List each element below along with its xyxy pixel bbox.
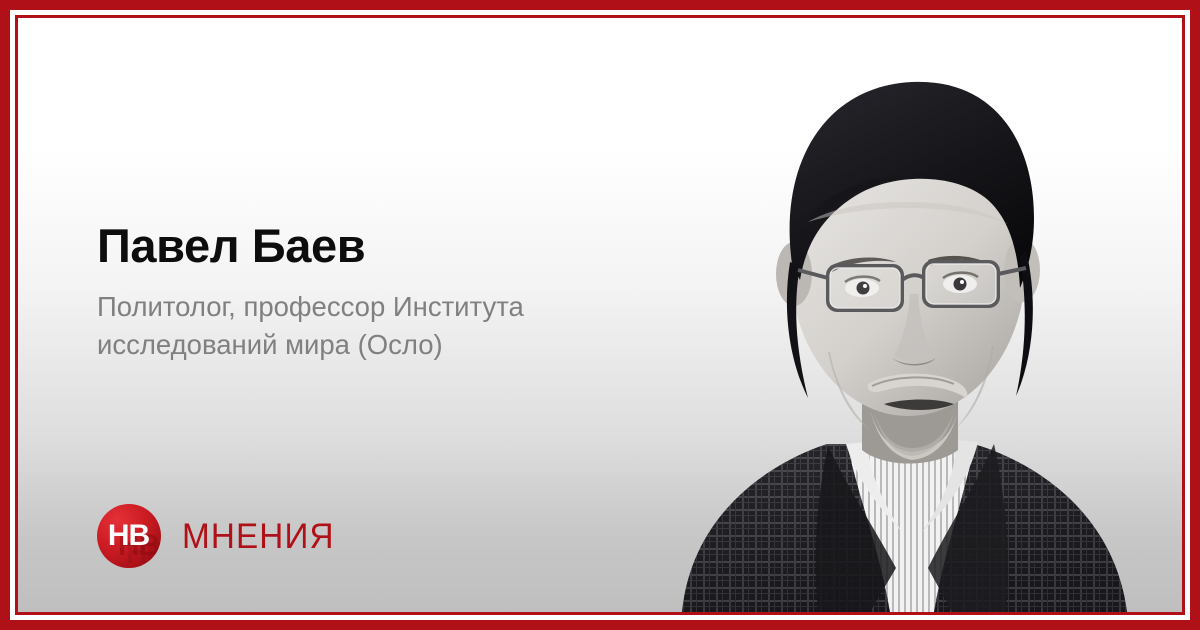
author-text-block: Павел Баев Политолог, профессор Институт… <box>97 222 597 364</box>
author-name: Павел Баев <box>97 222 597 271</box>
author-role: Политолог, профессор Института исследова… <box>97 288 567 364</box>
author-portrait-photo <box>622 18 1182 612</box>
nv-logo-letters: НВ <box>97 504 161 568</box>
brand-lockup[interactable]: НВ МНЕНИЯ <box>97 504 343 568</box>
brand-word-opinions: МНЕНИЯ <box>182 519 335 554</box>
opinion-card: Павел Баев Политолог, профессор Институт… <box>0 0 1200 630</box>
card-canvas: Павел Баев Политолог, профессор Институт… <box>18 18 1182 612</box>
nv-logo-icon[interactable]: НВ <box>97 504 161 568</box>
